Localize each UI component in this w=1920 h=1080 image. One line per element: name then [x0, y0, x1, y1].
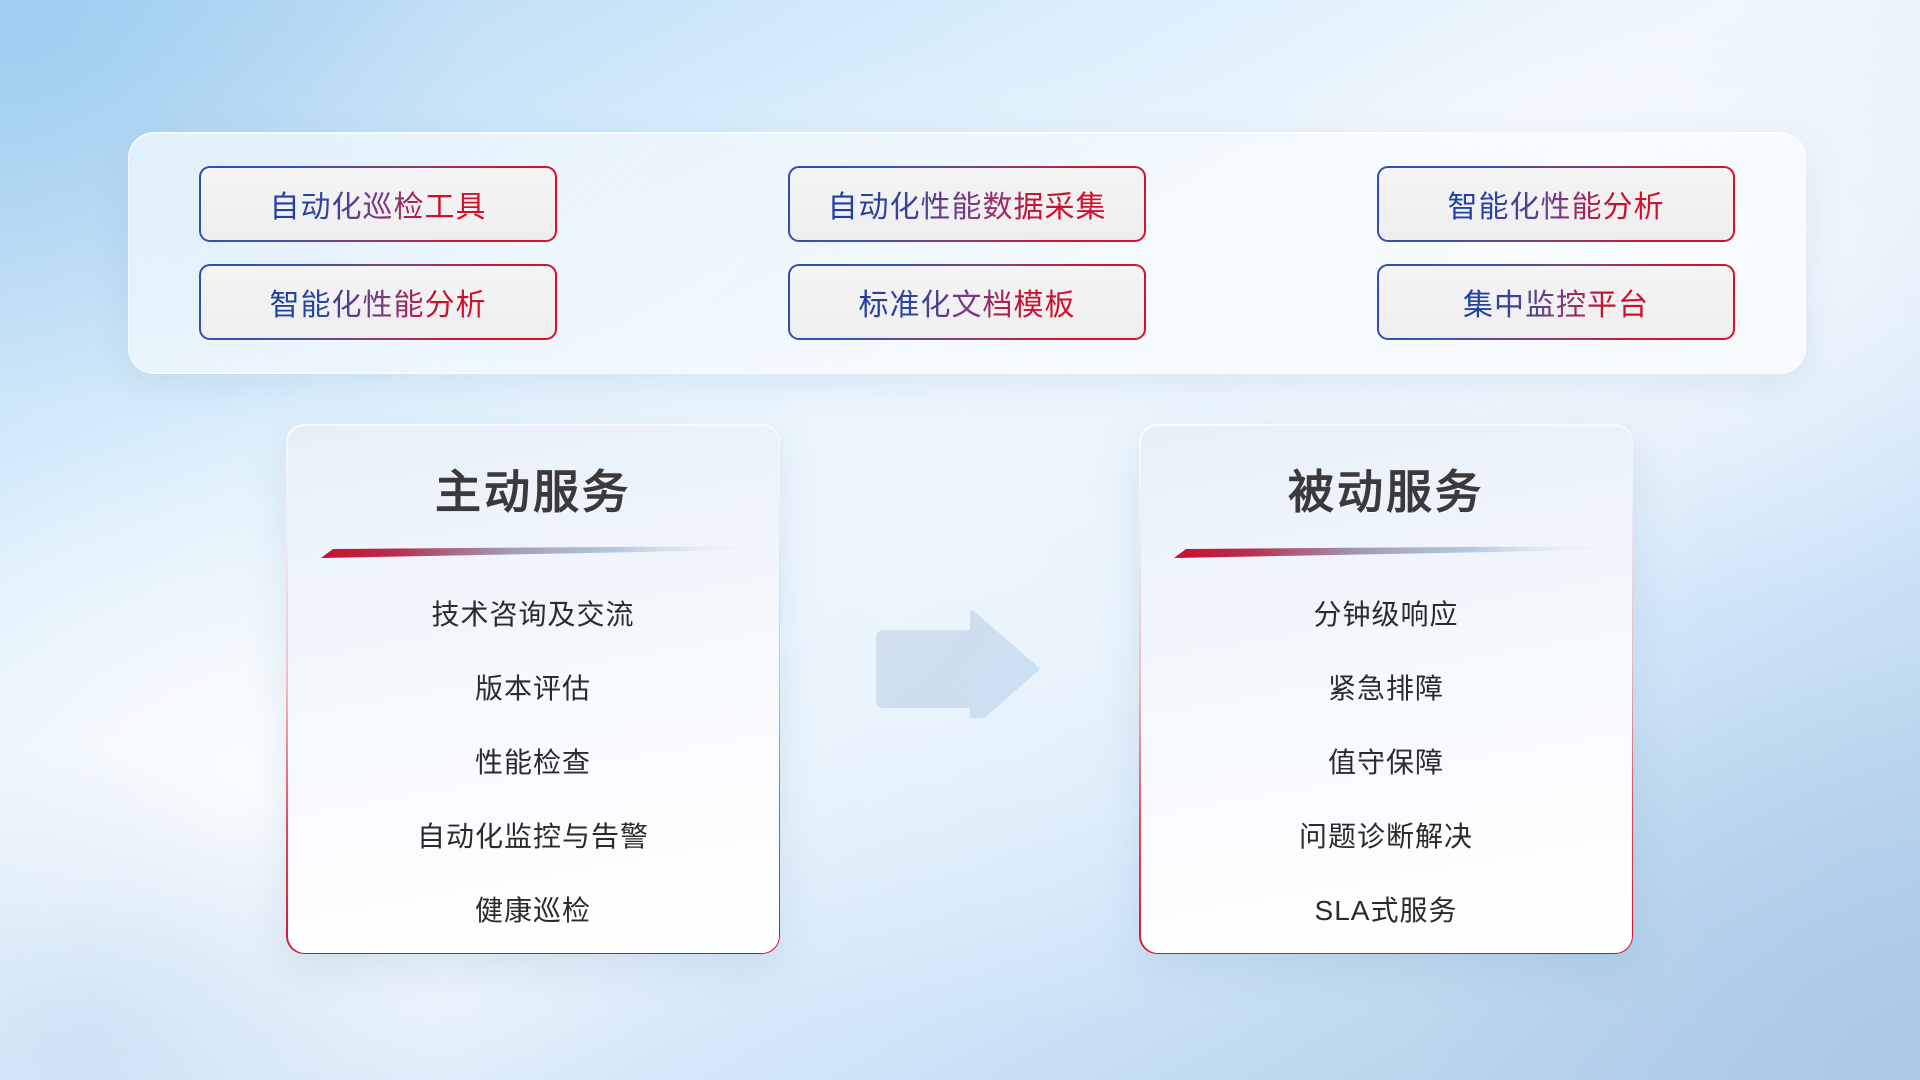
capability-pill-label: 自动化性能数据采集: [828, 182, 1107, 226]
service-card-title: 主动服务: [435, 456, 631, 522]
service-item: 健康巡检: [475, 889, 591, 929]
capability-row-2: 智能化性能分析 标准化文档模板 集中监控平台: [199, 264, 1735, 340]
capability-pill-surface: 自动化性能数据采集: [790, 168, 1144, 240]
service-card-proactive: 主动服务 技术咨询及交流: [286, 424, 780, 954]
service-card-surface: 被动服务 分钟级响应: [1141, 426, 1632, 953]
service-card-title: 被动服务: [1288, 456, 1484, 522]
capability-pill[interactable]: 集中监控平台: [1377, 264, 1735, 340]
capability-pill[interactable]: 智能化性能分析: [1377, 166, 1735, 242]
service-item-list: 分钟级响应 紧急排障 值守保障 问题诊断解决 SLA式服务: [1141, 593, 1632, 929]
service-card-surface: 主动服务 技术咨询及交流: [288, 426, 779, 953]
flow-arrow: [870, 608, 1042, 718]
service-item: SLA式服务: [1315, 889, 1458, 929]
capability-row-1: 自动化巡检工具 自动化性能数据采集 智能化性能分析: [199, 166, 1735, 242]
capability-pill-surface: 智能化性能分析: [201, 266, 555, 338]
capability-pill-label: 自动化巡检工具: [270, 182, 487, 226]
service-item: 版本评估: [475, 667, 591, 707]
title-divider: [1174, 546, 1598, 559]
capability-pill-label: 智能化性能分析: [270, 280, 487, 324]
capability-pill-surface: 智能化性能分析: [1379, 168, 1733, 240]
service-item-list: 技术咨询及交流 版本评估 性能检查 自动化监控与告警 健康巡检: [288, 593, 779, 929]
service-item: 问题诊断解决: [1299, 815, 1473, 855]
capability-pill-label: 智能化性能分析: [1448, 182, 1665, 226]
capability-pill-surface: 自动化巡检工具: [201, 168, 555, 240]
capability-panel: 自动化巡检工具 自动化性能数据采集 智能化性能分析 智能化性能分析: [128, 132, 1806, 374]
service-item: 值守保障: [1328, 741, 1444, 781]
service-item: 分钟级响应: [1313, 593, 1458, 633]
title-divider: [321, 546, 745, 559]
capability-pill-surface: 标准化文档模板: [790, 266, 1144, 338]
capability-pill-label: 标准化文档模板: [859, 280, 1076, 324]
capability-pill[interactable]: 自动化巡检工具: [199, 166, 557, 242]
capability-pill[interactable]: 智能化性能分析: [199, 264, 557, 340]
service-item: 紧急排障: [1328, 667, 1444, 707]
capability-pill-label: 集中监控平台: [1463, 280, 1649, 324]
service-item: 自动化监控与告警: [417, 815, 649, 855]
capability-pill[interactable]: 标准化文档模板: [788, 264, 1146, 340]
service-item: 技术咨询及交流: [431, 593, 634, 633]
service-item: 性能检查: [475, 741, 591, 781]
diagram-canvas: 自动化巡检工具 自动化性能数据采集 智能化性能分析 智能化性能分析: [0, 0, 1920, 1080]
capability-pill[interactable]: 自动化性能数据采集: [788, 166, 1146, 242]
service-card-reactive: 被动服务 分钟级响应: [1139, 424, 1633, 954]
capability-pill-surface: 集中监控平台: [1379, 266, 1733, 338]
